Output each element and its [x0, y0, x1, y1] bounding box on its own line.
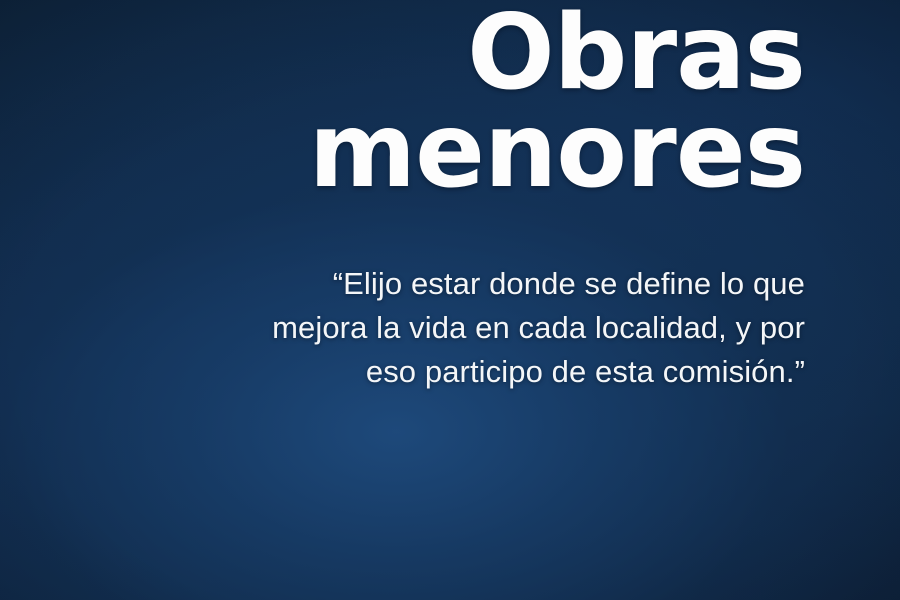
slide-content: Obras menores “Elijo estar donde se defi… — [0, 0, 900, 394]
slide-quote: “Elijo estar donde se define lo que mejo… — [60, 200, 805, 394]
title-line-2: menores — [309, 91, 805, 211]
quote-line-2: mejora la vida en cada localidad, y por — [60, 306, 805, 350]
presentation-slide: Obras menores “Elijo estar donde se defi… — [0, 0, 900, 600]
quote-line-3: eso participo de esta comisión.” — [60, 350, 805, 394]
slide-title: Obras menores — [60, 0, 805, 200]
quote-line-1: “Elijo estar donde se define lo que — [60, 262, 805, 306]
